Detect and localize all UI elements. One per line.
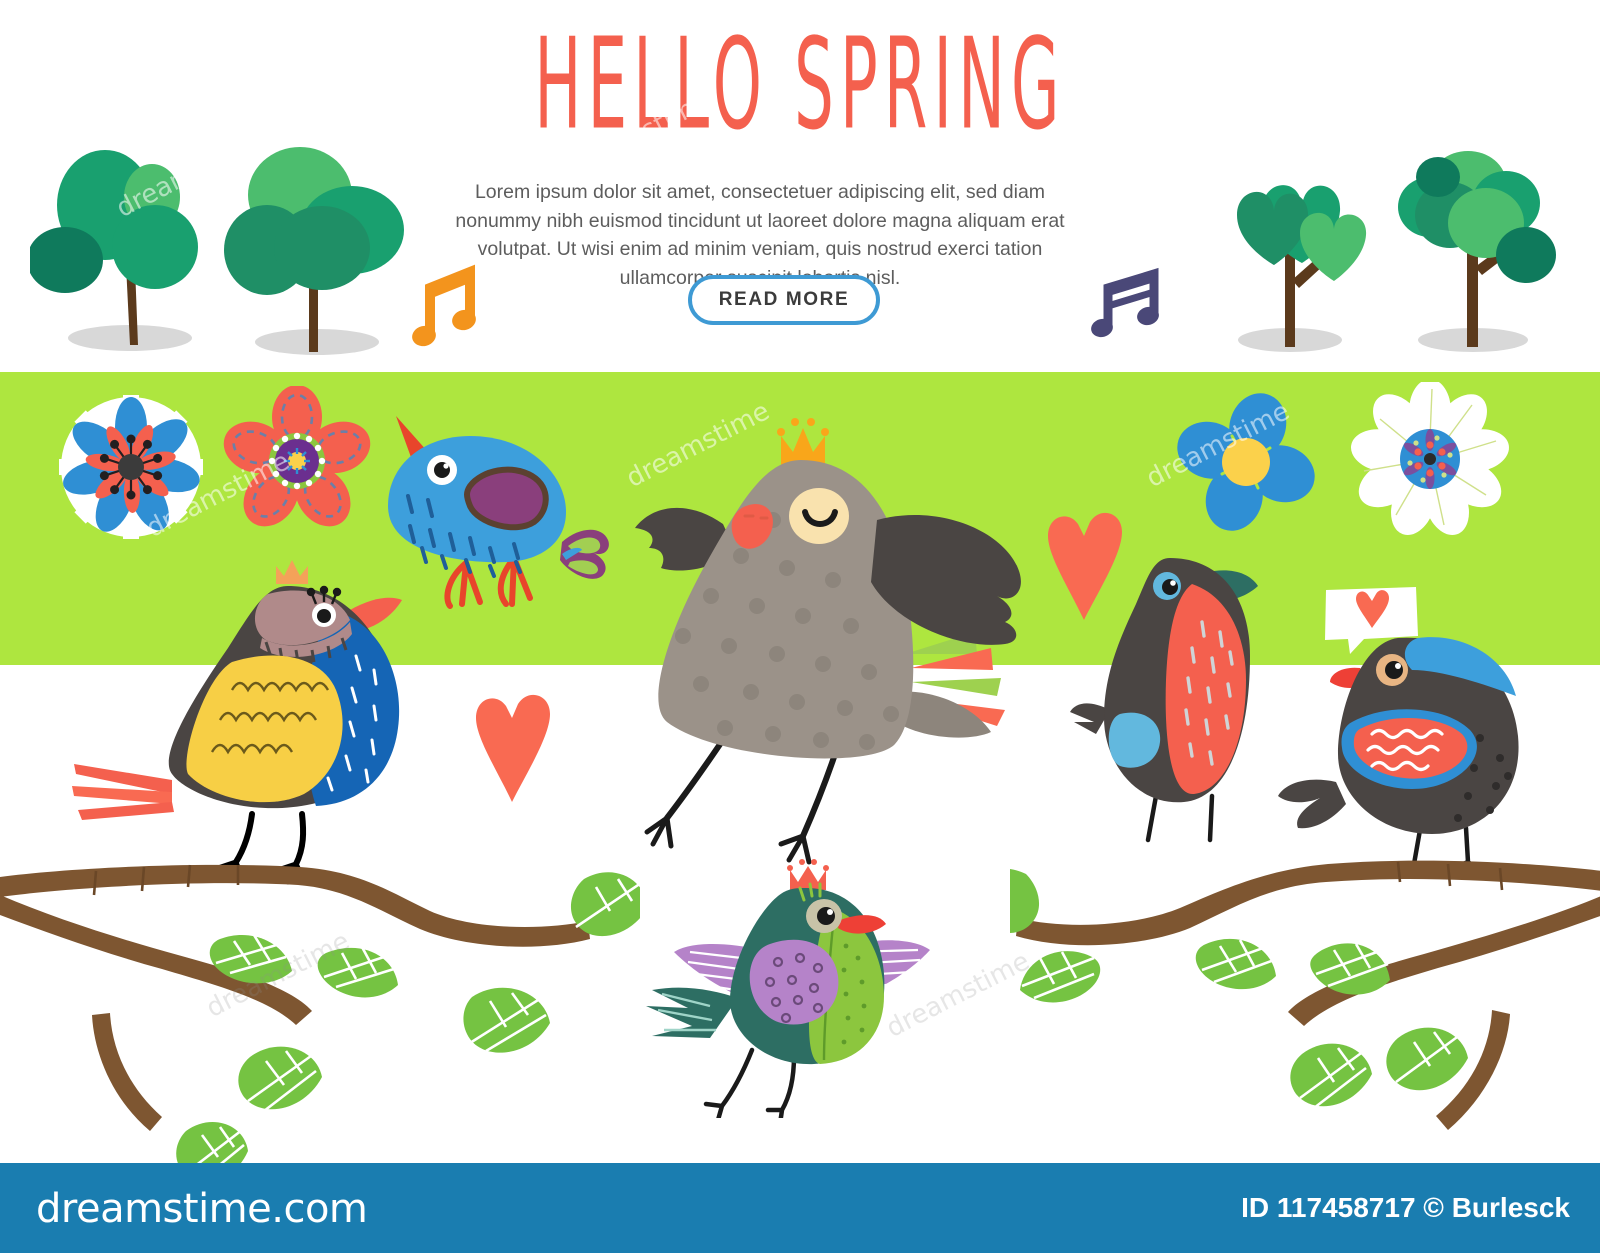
leaf <box>571 872 640 936</box>
leaf <box>1310 943 1390 994</box>
leaf <box>1290 1044 1372 1108</box>
music-note-navy-icon <box>1086 266 1166 344</box>
leaf <box>318 947 398 997</box>
flower-white-daisy <box>1348 382 1513 537</box>
leaf <box>238 1047 322 1111</box>
bird-king-gray <box>605 392 1075 872</box>
page-title: HELLO SPRING <box>304 22 1296 147</box>
bird-green-flying <box>618 858 968 1118</box>
leaf <box>1020 951 1100 1002</box>
leaf <box>1196 939 1276 989</box>
leaf <box>1386 1028 1468 1091</box>
image-credit: ID 117458717 © Burlesck <box>1241 1192 1570 1224</box>
leaf <box>176 1122 248 1165</box>
tree-left-1 <box>30 115 230 360</box>
leaf <box>463 988 550 1053</box>
heart-large-left <box>468 680 558 805</box>
illustration-canvas: HELLO SPRING Lorem ipsum dolor sit amet,… <box>0 0 1600 1253</box>
branch-left <box>0 835 640 1165</box>
flower-blue-four-petal <box>1176 392 1316 532</box>
read-more-button[interactable]: READ MORE <box>688 275 880 325</box>
branch-right <box>1010 832 1600 1162</box>
dreamstime-logo[interactable]: dreamstime.com <box>36 1186 367 1232</box>
tree-left-2 <box>212 120 417 360</box>
tree-right-2 <box>1378 115 1583 360</box>
flower-coral-folk <box>222 386 372 536</box>
music-note-orange-icon <box>408 258 488 350</box>
tree-right-1 <box>1192 115 1402 360</box>
flower-blue-coral <box>56 392 206 542</box>
